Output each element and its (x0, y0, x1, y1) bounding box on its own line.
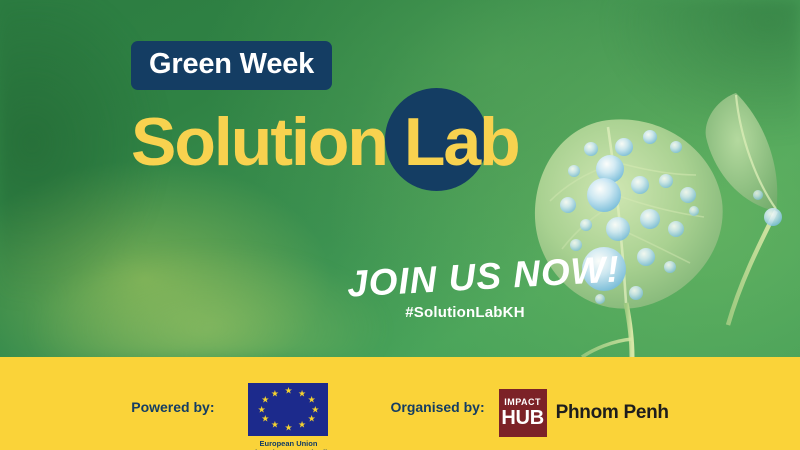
footer-credits: Powered by: ★ ★ ★ ★ ★ ★ ★ ★ ★ ★ ★ ★ (131, 357, 669, 450)
eu-flag-icon: ★ ★ ★ ★ ★ ★ ★ ★ ★ ★ ★ ★ (248, 383, 328, 436)
eu-caption: European Union Delegation to Cambodia (246, 439, 332, 450)
footer-bar: Powered by: ★ ★ ★ ★ ★ ★ ★ ★ ★ ★ ★ ★ (0, 357, 800, 450)
impact-hub-word-hub: HUB (501, 408, 543, 428)
impact-hub-logo: IMPACT HUB Phnom Penh (499, 383, 669, 437)
powered-by-credit: Powered by: ★ ★ ★ ★ ★ ★ ★ ★ ★ ★ ★ ★ (131, 383, 348, 450)
organised-by-credit: Organised by: IMPACT HUB Phnom Penh (390, 383, 668, 437)
call-to-action: JOIN US NOW! #SolutionLabKH (347, 259, 583, 321)
page-title: Solution Lab (131, 92, 561, 192)
organised-by-label: Organised by: (390, 383, 484, 415)
join-us-now-text: JOIN US NOW! (346, 252, 584, 304)
poster-canvas: Green Week Solution Lab JOIN US NOW! #So… (0, 0, 800, 450)
impact-hub-word-impact: IMPACT (504, 398, 541, 407)
impact-hub-city-label: Phnom Penh (556, 402, 669, 424)
green-week-badge: Green Week (131, 41, 332, 90)
solution-lab-lockup: Solution Lab (131, 92, 561, 192)
european-union-logo: ★ ★ ★ ★ ★ ★ ★ ★ ★ ★ ★ ★ European U (228, 383, 348, 450)
powered-by-label: Powered by: (131, 383, 214, 415)
hashtag-text: #SolutionLabKH (347, 304, 583, 321)
impact-hub-mark-icon: IMPACT HUB (499, 389, 547, 437)
eu-caption-line-1: European Union (246, 439, 332, 448)
